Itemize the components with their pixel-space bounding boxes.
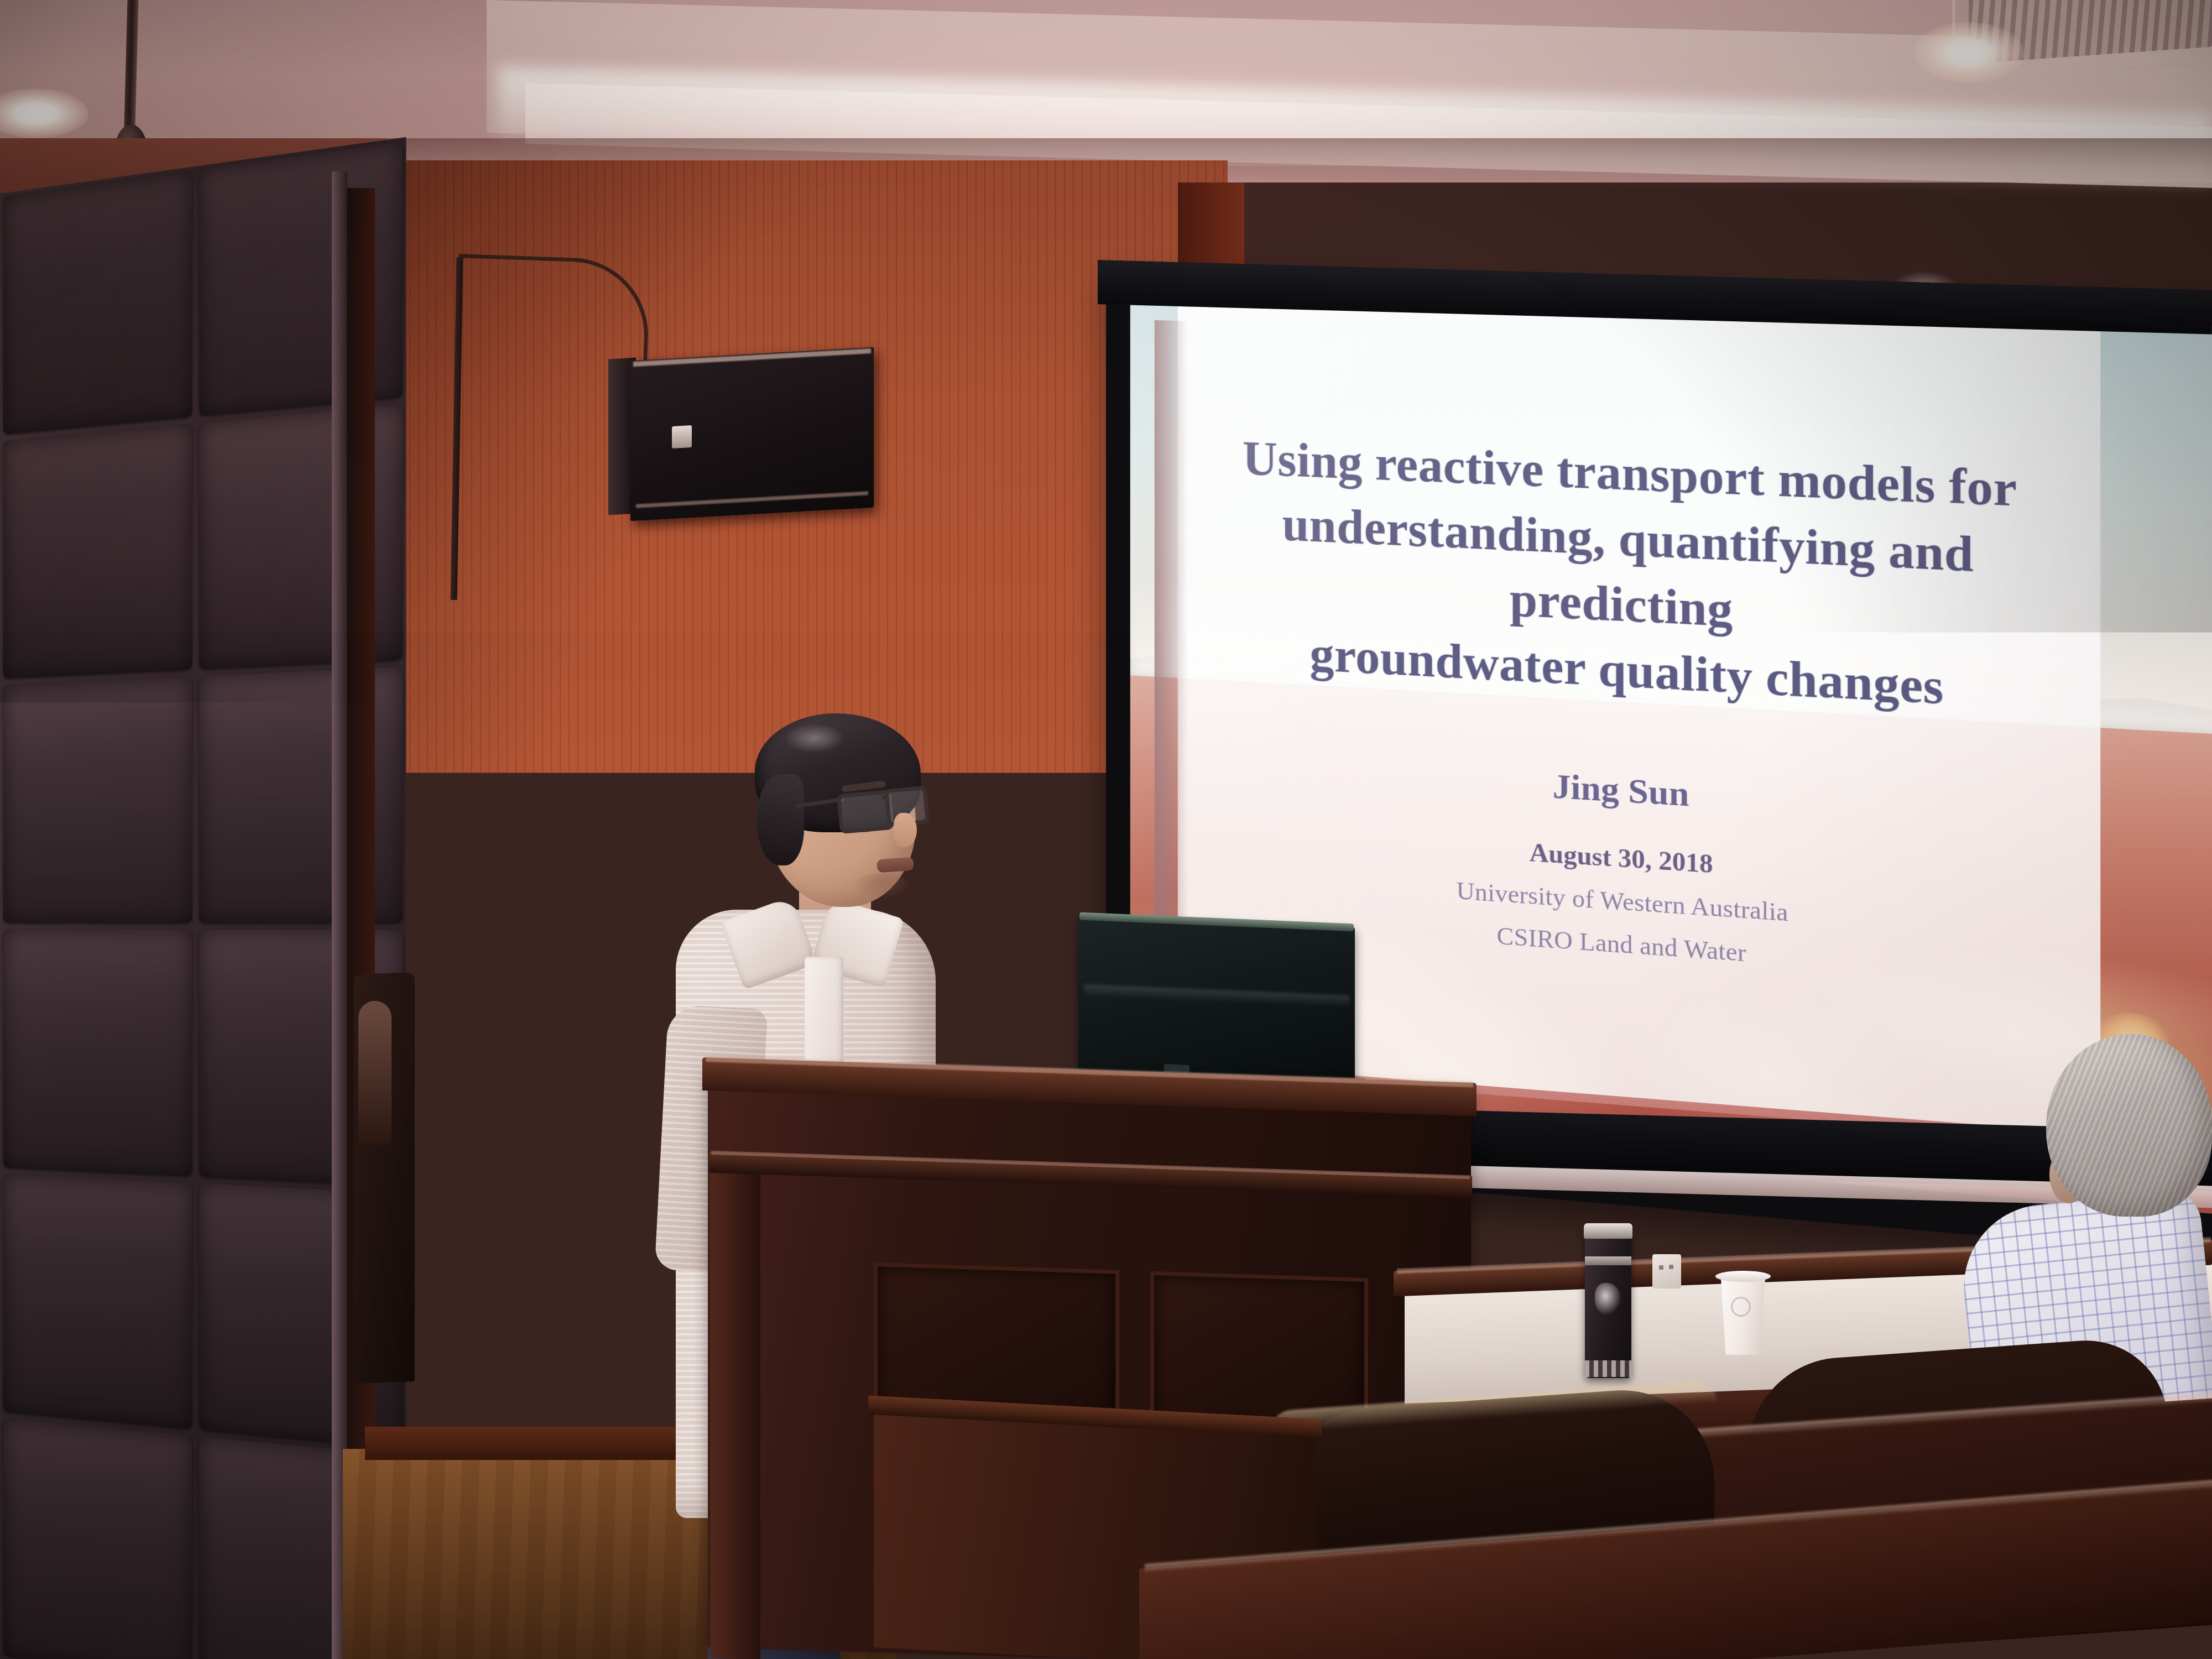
paper-cup-rim [1715, 1271, 1771, 1282]
speaker-badge [672, 425, 692, 448]
thermos-label-band [1585, 1256, 1631, 1265]
thermos-cap [1584, 1223, 1632, 1239]
slide-affiliation-2: CSIRO Land and Water [1497, 921, 1746, 968]
presenter-hair-highlight [784, 723, 845, 753]
slide-title: Using reactive transport models for unde… [1194, 424, 2071, 728]
paper-cup-logo [1731, 1297, 1751, 1317]
acoustic-panel [3, 424, 192, 679]
presenter-hair-side [757, 774, 804, 865]
acoustic-panel [3, 1418, 192, 1659]
lectern-side [711, 1166, 760, 1659]
slide-affiliation-1: University of Western Australia [1457, 877, 1788, 927]
presenter-mouth [877, 857, 914, 873]
panel-wall-edge [332, 171, 347, 1659]
acoustic-panel [3, 676, 192, 923]
thermos-base-band [1585, 1360, 1631, 1377]
side-chair-back [358, 1001, 392, 1145]
table-power-outlet-icon[interactable] [1652, 1254, 1681, 1288]
wall-power-outlet-icon[interactable] [519, 1376, 555, 1410]
lecture-hall-photo: Using reactive transport models for unde… [0, 0, 2212, 1659]
acoustic-panel [3, 930, 192, 1176]
audience-member-hair [2046, 1034, 2212, 1217]
presenter-nose [894, 813, 917, 847]
slide-date: August 30, 2018 [1530, 837, 1713, 879]
slide-author: Jing Sun [1553, 766, 1689, 815]
presenter-chin-shadow [852, 874, 912, 899]
acoustic-panel [3, 1174, 192, 1429]
ceiling-downlight-icon [1913, 22, 2024, 83]
acoustic-panel [3, 170, 192, 434]
